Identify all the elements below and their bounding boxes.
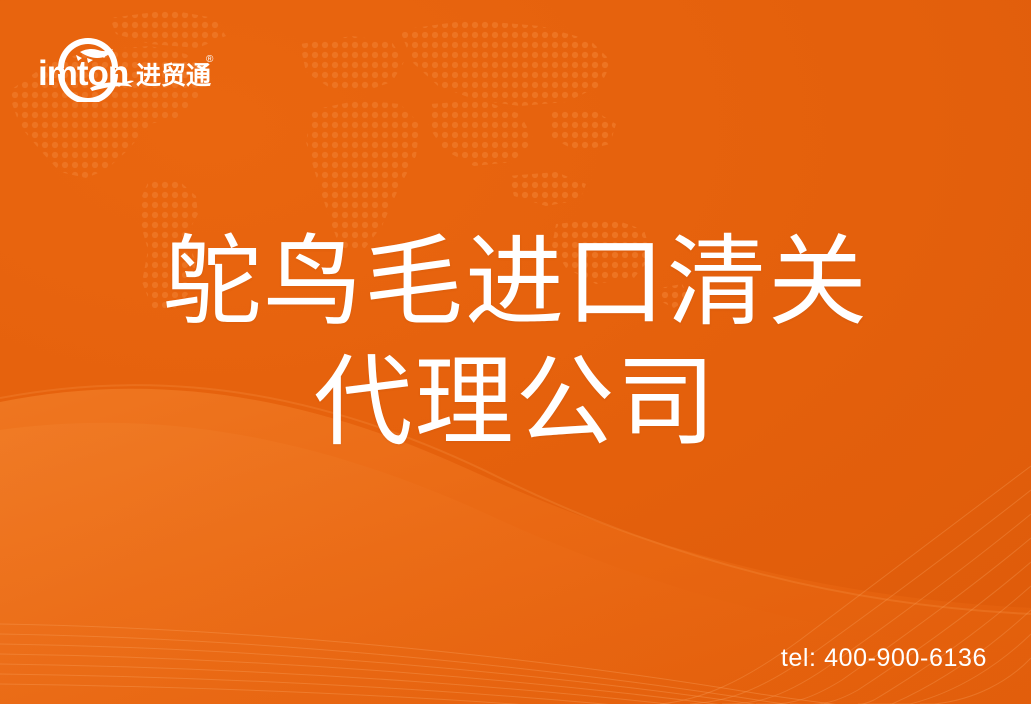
logo-trademark-symbol: ® bbox=[206, 54, 214, 65]
contact-phone[interactable]: tel: 400-900-6136 bbox=[781, 646, 987, 671]
headline-line-2: 代理公司 bbox=[0, 342, 1031, 462]
headline: 鸵鸟毛进口清关 代理公司 bbox=[0, 222, 1031, 462]
headline-line-1: 鸵鸟毛进口清关 bbox=[0, 222, 1031, 342]
company-logo[interactable]: imton 进贸通 ® bbox=[36, 28, 216, 102]
promo-banner: imton 进贸通 ® 鸵鸟毛进口清关 代理公司 tel: 400-900-61… bbox=[0, 0, 1031, 704]
logo-latin-text: imton bbox=[38, 54, 128, 93]
logo-chinese-text: 进贸通 bbox=[136, 61, 211, 90]
